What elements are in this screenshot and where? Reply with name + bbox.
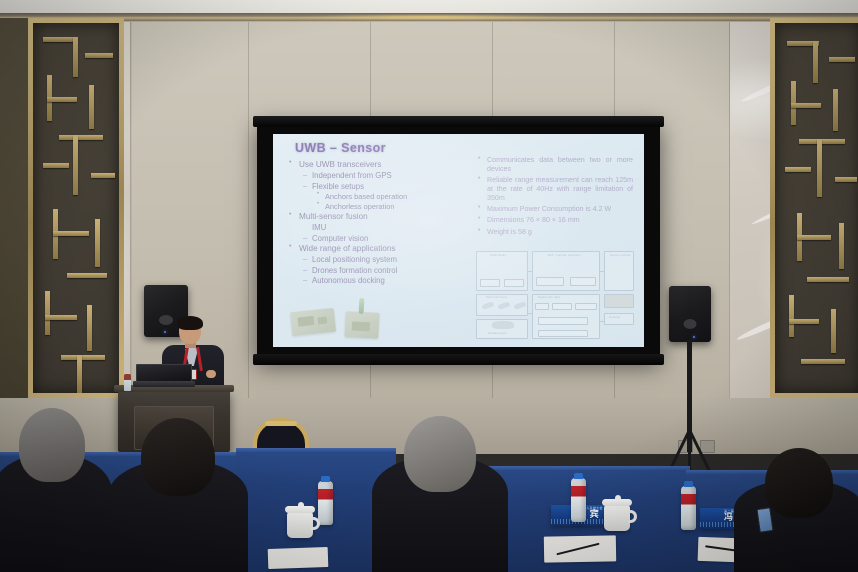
slide-bullet: Wide range of applications (289, 244, 479, 254)
water-bottle[interactable] (571, 478, 586, 522)
tea-mug[interactable] (287, 512, 313, 538)
diagram-label: Quadrocopter (488, 331, 507, 335)
laptop-screen (136, 364, 192, 382)
attendee-front-left-center (108, 418, 248, 572)
slide-spec-item: Dimensions 76 × 80 × 16 mm (478, 216, 633, 225)
slide-bullet: Drones formation control (289, 266, 479, 276)
attendee-front-left (0, 408, 112, 572)
rail-light-glint (300, 14, 560, 20)
laptop-keyboard (133, 381, 195, 387)
slide-bullet: Flexible setups (289, 182, 479, 192)
diagram-label: Digital twin data (538, 295, 560, 299)
diagram-label: Docking (609, 315, 620, 319)
attendee-front-right (734, 448, 858, 572)
diagram-label: UWB Radio (490, 253, 506, 257)
note-paper[interactable] (268, 547, 329, 569)
slide-bullet: Anchorless operation (289, 202, 479, 211)
slide-bullet: Use UWB transceivers (289, 160, 479, 170)
wall-panel-seam (248, 22, 249, 447)
slide-bullet: Multi-sensor fusion (289, 212, 479, 222)
screen-bottom-bar (253, 354, 664, 365)
uwb-board-photo-2 (344, 311, 379, 339)
slide-left-column: Use UWB transceivers Independent from GP… (289, 160, 479, 287)
slide-spec-item: Reliable range measurement can reach 125… (478, 176, 633, 203)
gold-lattice-screen-left (28, 18, 124, 398)
uwb-board-photo-1 (290, 308, 336, 336)
projection-screen: UWB – Sensor Use UWB transceivers Indepe… (257, 120, 660, 360)
slide-bullet: Local positioning system (289, 255, 479, 265)
ceiling (0, 0, 858, 14)
slide-bullet: IMU (289, 223, 479, 233)
conference-room-photo: UWB – Sensor Use UWB transceivers Indepe… (0, 0, 858, 572)
presenter-hair (177, 316, 203, 330)
podium-water-bottle (124, 374, 131, 391)
screen-top-bar (253, 116, 664, 127)
presentation-slide: UWB – Sensor Use UWB transceivers Indepe… (273, 134, 644, 347)
tea-mug[interactable] (604, 505, 630, 531)
gold-lattice-screen-right (770, 18, 858, 398)
slide-bullet: Independent from GPS (289, 171, 479, 181)
power-outlet (700, 440, 715, 453)
slide-right-column: Communicates data between two or more de… (478, 156, 633, 239)
pa-speaker-right (669, 286, 711, 342)
slide-spec-item: Weight is 58 g (478, 228, 633, 237)
slide-title: UWB – Sensor (295, 141, 386, 155)
slide-bullet: Computer vision (289, 234, 479, 244)
system-block-diagram: UWB Radio EKF / Kalman estimator Sensor … (476, 251, 634, 339)
wall-recess-left (0, 18, 30, 398)
diagram-label: Sensor outputs (610, 253, 631, 257)
slide-bullet: Anchors based operation (289, 192, 479, 201)
diagram-label: EKF / Kalman estimator (548, 253, 581, 257)
slide-spec-item: Communicates data between two or more de… (478, 156, 633, 174)
water-bottle[interactable] (318, 481, 333, 525)
attendee-front-center-right (372, 416, 508, 572)
water-bottle[interactable] (681, 486, 696, 530)
slide-bullet: Autonomous docking (289, 276, 479, 286)
diagram-label: Multi-UAV body (486, 295, 507, 299)
presenter-hand (206, 370, 216, 378)
slide-spec-item: Maximum Power Consumption is 4.2 W (478, 205, 633, 214)
